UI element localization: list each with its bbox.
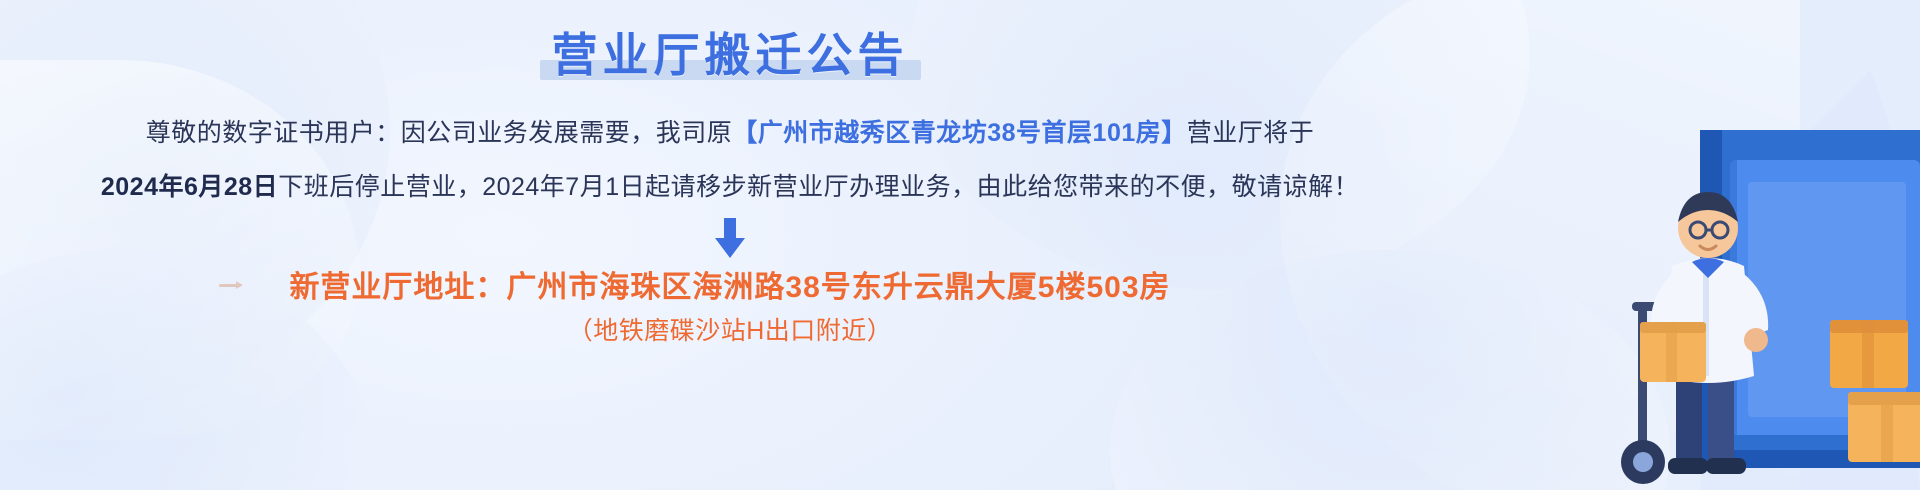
notice-paragraph: 尊敬的数字证书用户：因公司业务发展需要，我司原【广州市越秀区青龙坊38号首层10… <box>40 106 1420 214</box>
notice-content: 营业厅搬迁公告 尊敬的数字证书用户：因公司业务发展需要，我司原【广州市越秀区青龙… <box>0 0 1460 490</box>
new-address-note: （地铁磨碟沙站H出口附近） <box>289 314 1170 349</box>
notice-line2-rest: 下班后停止营业，2024年7月1日起请移步新营业厅办理业务，由此给您带来的不便，… <box>278 173 1359 201</box>
relocation-notice-banner: 营业厅搬迁公告 尊敬的数字证书用户：因公司业务发展需要，我司原【广州市越秀区青龙… <box>0 0 1920 490</box>
notice-line1-prefix: 尊敬的数字证书用户：因公司业务发展需要，我司原 <box>146 119 733 147</box>
moving-truck-illustration <box>1400 70 1920 490</box>
notice-line1-suffix: 营业厅将于 <box>1187 119 1315 147</box>
new-address-text: 新营业厅地址：广州市海珠区海洲路38号东升云鼎大厦5楼503房 <box>289 266 1170 310</box>
page-title: 营业厅搬迁公告 <box>552 24 909 86</box>
page-title-wrapper: 营业厅搬迁公告 <box>552 24 909 86</box>
new-address-block: 新营业厅地址：广州市海珠区海洲路38号东升云鼎大厦5楼503房 （地铁磨碟沙站H… <box>289 266 1170 349</box>
arrow-down-icon <box>707 218 753 260</box>
closing-date-emphasis: 2024年6月28日 <box>101 173 278 201</box>
pointer-dash-icon <box>219 284 241 287</box>
old-address-highlight: 【广州市越秀区青龙坊38号首层101房】 <box>732 119 1187 147</box>
